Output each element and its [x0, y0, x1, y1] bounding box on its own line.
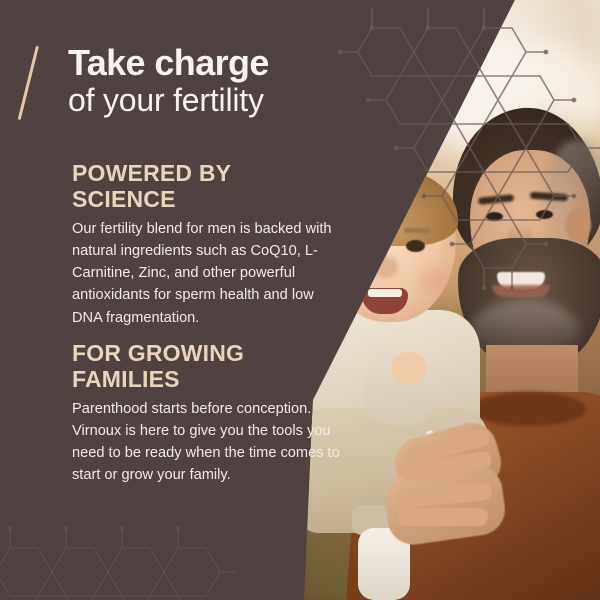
hexagon-pattern-icon — [0, 500, 236, 600]
title-line-2: of your fertility — [68, 82, 368, 120]
baby-eyebrow-left — [346, 228, 372, 233]
page-title: Take charge of your fertility — [68, 44, 368, 120]
section-heading: FOR GROWING FAMILIES — [72, 340, 340, 392]
slash-accent — [18, 46, 39, 120]
section-heading: POWERED BY SCIENCE — [72, 160, 340, 212]
section-powered-by-science: POWERED BY SCIENCE Our fertility blend f… — [72, 160, 340, 329]
title-line-1: Take charge — [68, 44, 368, 82]
section-body: Our fertility blend for men is backed wi… — [72, 218, 340, 329]
baby-eye-left — [350, 240, 369, 252]
section-body: Parenthood starts before conception. Vir… — [72, 398, 340, 487]
promo-graphic: Take charge of your fertility POWERED BY… — [0, 0, 600, 600]
section-for-growing-families: FOR GROWING FAMILIES Parenthood starts b… — [72, 340, 340, 487]
